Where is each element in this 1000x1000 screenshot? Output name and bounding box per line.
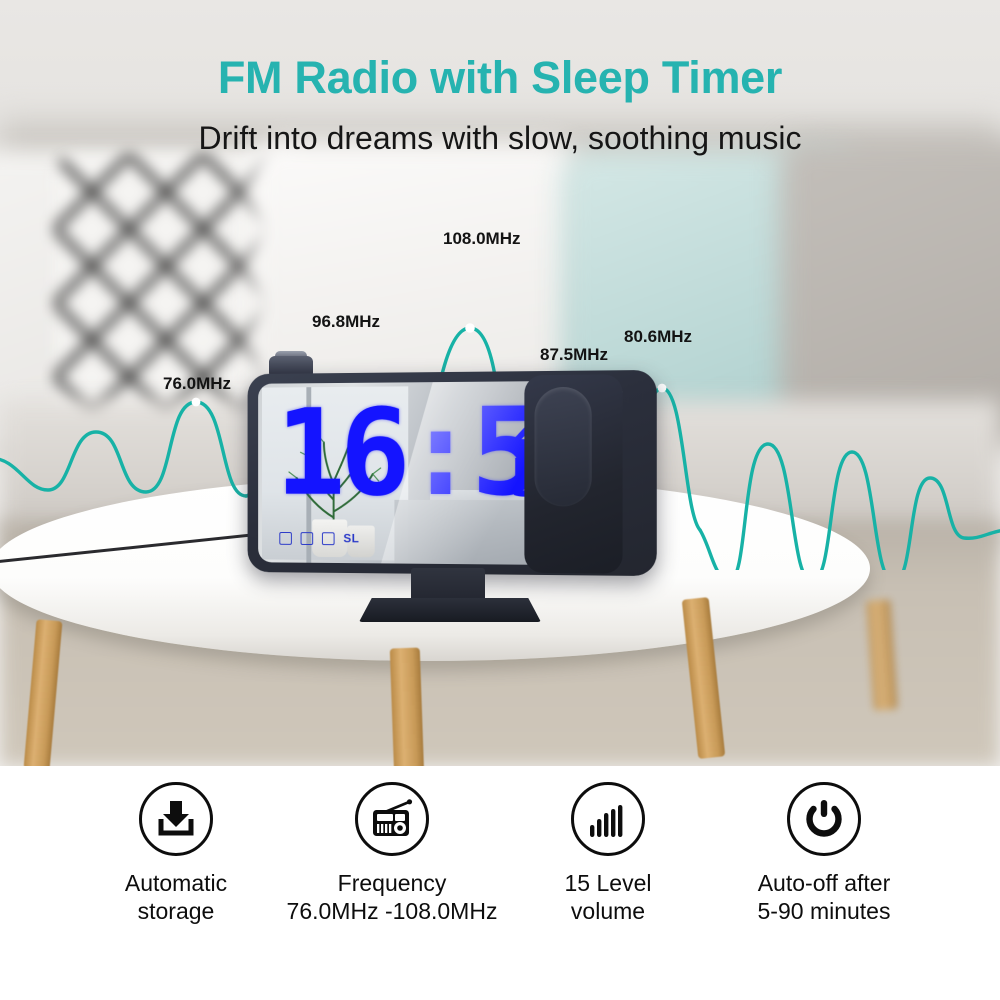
feature-strip: Automatic storage (0, 766, 1000, 1000)
sleep-indicator: SL (343, 531, 359, 545)
frequency-label-76: 76.0MHz (163, 374, 231, 394)
feature-label-line2: volume (565, 897, 652, 925)
waveform-peak-dot (192, 398, 201, 407)
page-title: FM Radio with Sleep Timer (0, 52, 1000, 104)
projection-alarm-clock: 16:59 27 ℃ 55 % (243, 372, 663, 597)
radio-icon (355, 782, 429, 856)
volume-bars-icon (571, 782, 645, 856)
feature-label: Frequency 76.0MHz -108.0MHz (287, 869, 498, 925)
table-leg (390, 648, 425, 766)
waveform-peak-dot (465, 323, 475, 333)
feature-label-line2: 76.0MHz -108.0MHz (287, 897, 498, 925)
feature-automatic-storage[interactable]: Automatic storage (68, 782, 284, 925)
feature-label: Automatic storage (125, 869, 227, 925)
waveform-path-left (0, 402, 246, 496)
feature-label-line1: 15 Level (565, 869, 652, 897)
clock-body: 16:59 27 ℃ 55 % (248, 370, 657, 576)
download-storage-icon (139, 782, 213, 856)
frequency-label-87: 87.5MHz (540, 345, 608, 365)
product-feature-banner: FM Radio with Sleep Timer Drift into dre… (0, 0, 1000, 1000)
hero-photo: FM Radio with Sleep Timer Drift into dre… (0, 0, 1000, 766)
status-indicators: SL (279, 531, 359, 545)
frequency-label-80: 80.6MHz (624, 327, 692, 347)
feature-label: Auto-off after 5-90 minutes (758, 869, 891, 925)
projector-lens-housing (535, 387, 592, 507)
feature-label-line1: Auto-off after (758, 869, 891, 897)
page-subtitle: Drift into dreams with slow, soothing mu… (0, 120, 1000, 157)
feature-label: 15 Level volume (565, 869, 652, 925)
feature-label-line1: Automatic (125, 869, 227, 897)
feature-label-line2: 5-90 minutes (758, 897, 891, 925)
projector-unit (524, 374, 622, 573)
radio-indicator-icon (322, 532, 335, 545)
power-icon (787, 782, 861, 856)
clock-stand-base (359, 598, 541, 622)
feature-volume[interactable]: 15 Level volume (500, 782, 716, 925)
frequency-label-96: 96.8MHz (312, 312, 380, 332)
waveform-path-right (700, 444, 1000, 570)
clock-stand-neck (411, 568, 485, 602)
alarm2-indicator-icon (301, 532, 314, 545)
feature-frequency[interactable]: Frequency 76.0MHz -108.0MHz (284, 782, 500, 925)
feature-label-line1: Frequency (287, 869, 498, 897)
frequency-label-108: 108.0MHz (443, 229, 520, 249)
feature-auto-off[interactable]: Auto-off after 5-90 minutes (716, 782, 932, 925)
alarm1-indicator-icon (279, 531, 292, 544)
feature-label-line2: storage (125, 897, 227, 925)
